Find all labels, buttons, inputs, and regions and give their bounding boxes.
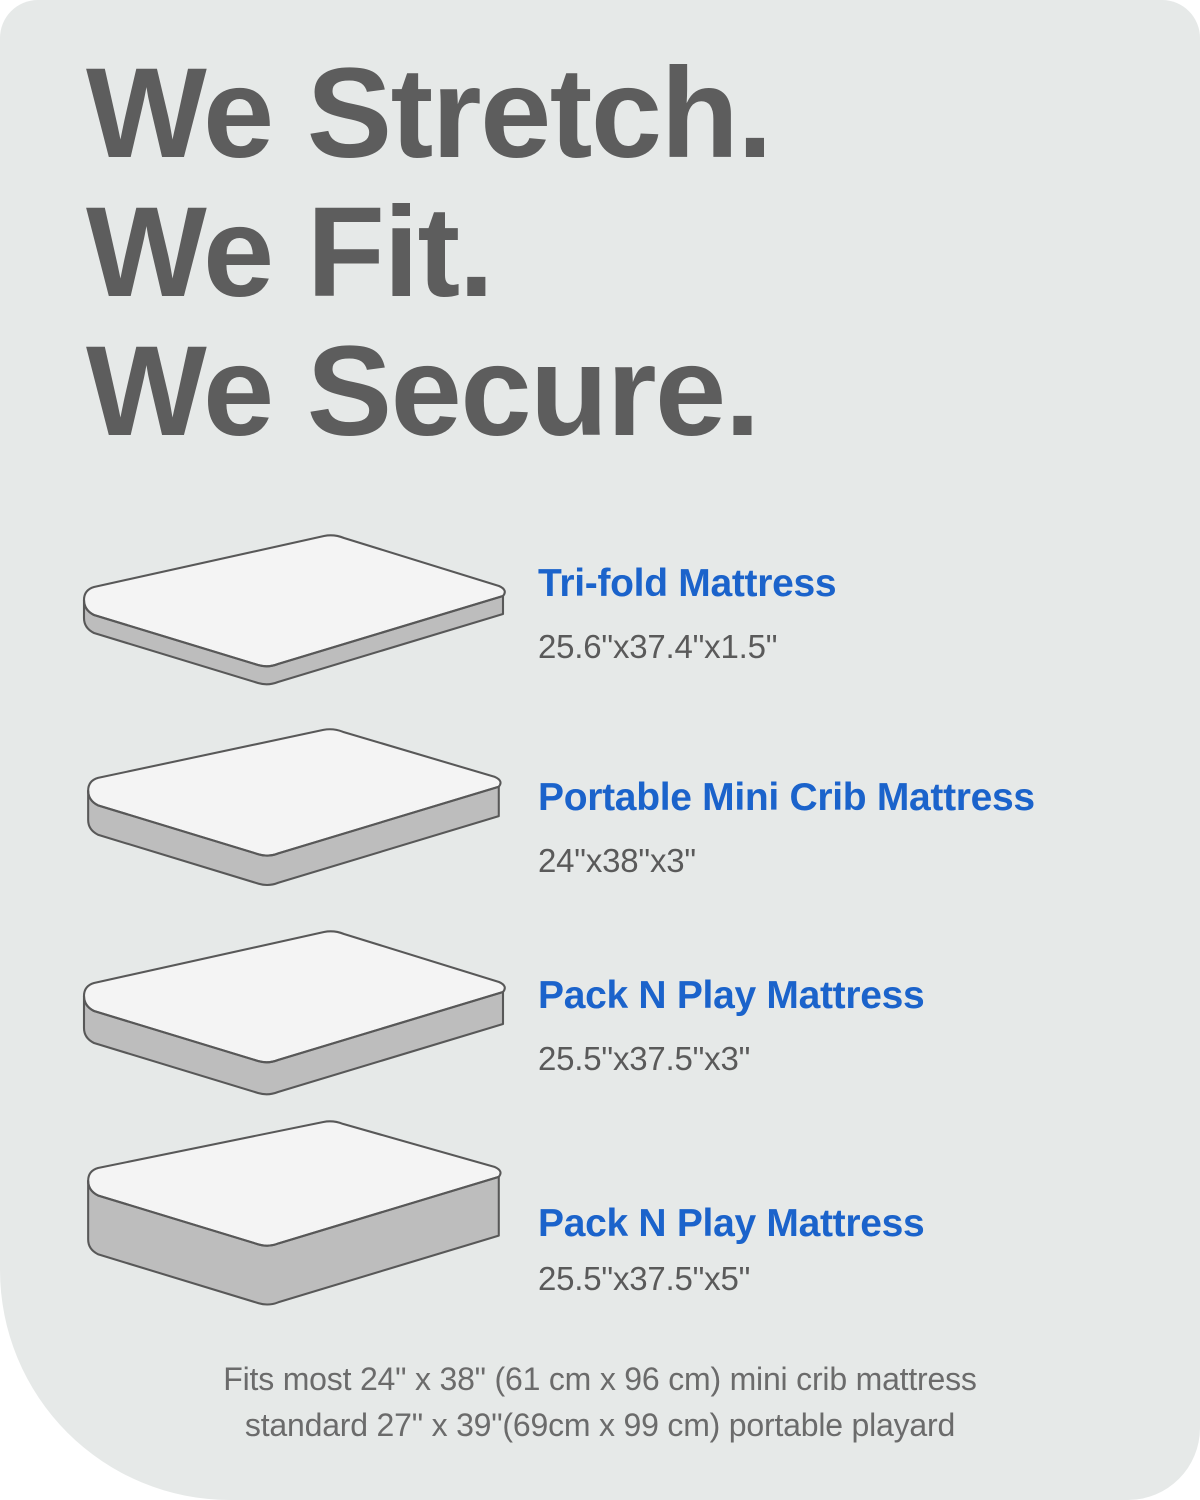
mattress-3d-icon (62, 1120, 522, 1316)
product-dimensions: 24"x38"x3" (538, 842, 1178, 880)
product-title: Portable Mini Crib Mattress (538, 776, 1178, 820)
mattress-3d-icon (62, 724, 522, 920)
product-row: Tri-fold Mattress 25.6"x37.4"x1.5" (0, 528, 1200, 724)
product-title: Pack N Play Mattress (538, 974, 1178, 1018)
product-text: Tri-fold Mattress 25.6"x37.4"x1.5" (538, 528, 1178, 724)
footer-line-2: standard 27" x 39"(69cm x 99 cm) portabl… (0, 1402, 1200, 1448)
mattress-illustration (62, 528, 522, 724)
footer-note: Fits most 24" x 38" (61 cm x 96 cm) mini… (0, 1356, 1200, 1448)
mattress-illustration (62, 1120, 522, 1316)
headline-block: We Stretch. We Fit. We Secure. (86, 44, 1086, 461)
product-list: Tri-fold Mattress 25.6"x37.4"x1.5" Porta… (0, 528, 1200, 1320)
product-row: Pack N Play Mattress 25.5"x37.5"x3" (0, 924, 1200, 1120)
headline-line-3: We Secure. (86, 322, 1086, 461)
mattress-illustration (62, 724, 522, 920)
product-row: Pack N Play Mattress 25.5"x37.5"x5" (0, 1120, 1200, 1320)
product-text: Pack N Play Mattress 25.5"x37.5"x3" (538, 924, 1178, 1120)
product-row: Portable Mini Crib Mattress 24"x38"x3" (0, 724, 1200, 924)
footer-line-1: Fits most 24" x 38" (61 cm x 96 cm) mini… (0, 1356, 1200, 1402)
mattress-3d-icon (62, 528, 522, 724)
product-dimensions: 25.5"x37.5"x5" (538, 1260, 1178, 1298)
product-text: Pack N Play Mattress 25.5"x37.5"x5" (538, 1120, 1178, 1316)
product-title: Pack N Play Mattress (538, 1202, 1178, 1246)
mattress-3d-icon (62, 924, 522, 1120)
product-dimensions: 25.5"x37.5"x3" (538, 1040, 1178, 1078)
headline-line-2: We Fit. (86, 183, 1086, 322)
product-dimensions: 25.6"x37.4"x1.5" (538, 628, 1178, 666)
product-title: Tri-fold Mattress (538, 562, 1178, 606)
infographic-panel: We Stretch. We Fit. We Secure. Tri-fold … (0, 0, 1200, 1500)
mattress-illustration (62, 924, 522, 1120)
headline-line-1: We Stretch. (86, 44, 1086, 183)
product-text: Portable Mini Crib Mattress 24"x38"x3" (538, 724, 1178, 920)
